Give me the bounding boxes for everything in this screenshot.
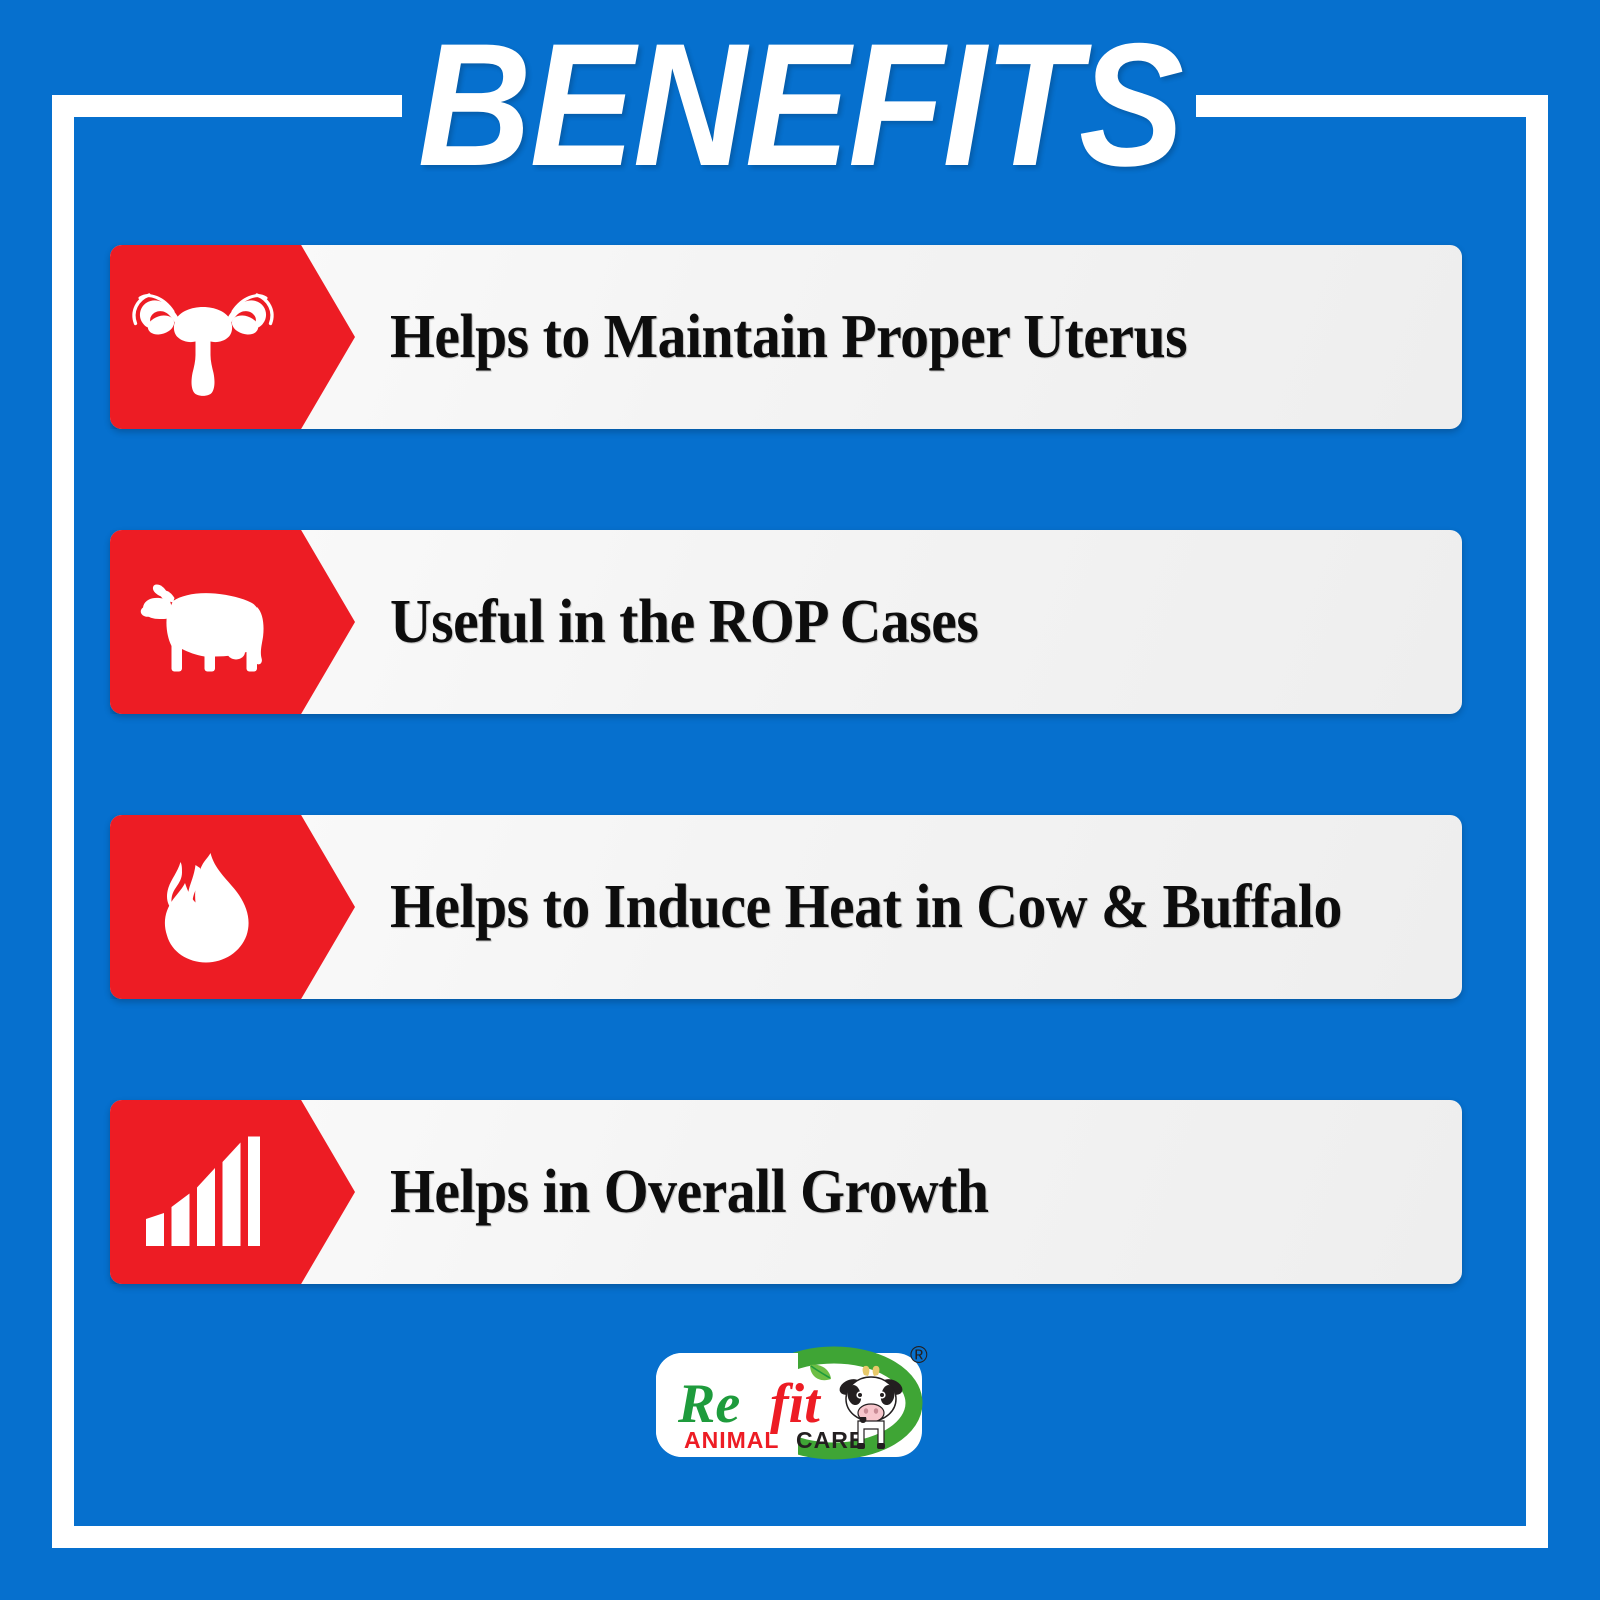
benefit-label-4: Helps in Overall Growth — [390, 1100, 1376, 1284]
uterus-icon — [128, 262, 278, 412]
logo-brand-part-2: fit — [770, 1373, 821, 1435]
benefit-label-3: Helps to Induce Heat in Cow & Buffalo — [390, 815, 1376, 999]
cow-icon — [128, 547, 278, 697]
benefit-row-1[interactable]: Helps to Maintain Proper Uterus — [110, 245, 1462, 429]
benefit-label-1: Helps to Maintain Proper Uterus — [390, 245, 1376, 429]
logo-registered-mark: ® — [910, 1342, 928, 1369]
logo-tagline-part-1: ANIMAL — [684, 1427, 779, 1453]
benefit-row-4[interactable]: Helps in Overall Growth — [110, 1100, 1462, 1284]
flame-icon — [128, 832, 278, 982]
benefit-row-3[interactable]: Helps to Induce Heat in Cow & Buffalo — [110, 815, 1462, 999]
logo-tagline-part-2: CARE — [796, 1427, 865, 1453]
logo-brand-part-1: Re — [677, 1373, 740, 1435]
benefit-row-2[interactable]: Useful in the ROP Cases — [110, 530, 1462, 714]
benefit-label-2: Useful in the ROP Cases — [390, 530, 1376, 714]
growth-bar-chart-icon — [128, 1117, 278, 1267]
refit-animal-care-logo[interactable]: Re fit ANIMAL CARE — [648, 1325, 948, 1475]
benefits-poster: BENEFITS — [0, 0, 1600, 1600]
